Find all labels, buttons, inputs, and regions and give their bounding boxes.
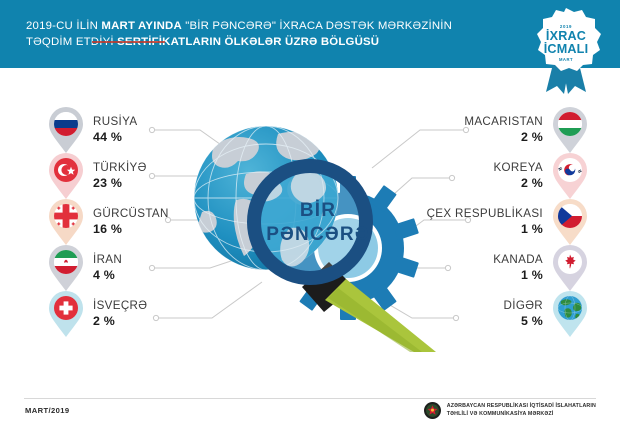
country-name: RUSİYA [93,115,137,129]
country-name: KOREYA [493,161,543,175]
georgia-flag-icon [54,204,78,228]
map-pin-cex-respublikasi [552,199,588,245]
title-underline-accent [92,41,165,43]
country-labels: KANADA 1 % [493,253,543,283]
country-labels: MACARISTAN 2 % [464,115,543,145]
map-pin-rusiya [48,107,84,153]
country-value: 1 % [521,222,543,237]
hungary-flag-icon [558,112,582,136]
diagram-stage: BİR PƏNCƏRƏ [0,68,620,386]
country-name: GÜRCÜSTAN [93,207,169,221]
country-value: 23 % [93,176,122,191]
russia-flag-icon [54,112,78,136]
title-part-bold-1: MART AYINDA [101,20,181,32]
map-pin-macaristan [552,107,588,153]
country-labels: KOREYA 2 % [493,161,543,191]
country-value: 44 % [93,130,122,145]
country-name: KANADA [493,253,543,267]
map-pin-isvecre [48,291,84,337]
country-row-koreya[interactable]: KOREYA 2 % [493,153,588,199]
map-pin-diger [552,291,588,337]
central-illustration: BİR PƏNCƏRƏ [178,116,448,352]
country-row-macaristan[interactable]: MACARISTAN 2 % [464,107,588,153]
country-labels: İSVEÇRƏ 2 % [93,299,147,329]
title-part-plain-1: 2019-CU İLİN [26,20,101,32]
country-name: İSVEÇRƏ [93,299,147,313]
switzerland-flag-icon [54,296,78,320]
organization-name: AZƏRBAYCAN RESPUBLİKASI İQTİSADİ İSLAHAT… [447,403,596,418]
country-value: 2 % [93,314,115,329]
map-pin-gurcustan [48,199,84,245]
country-name: DİGƏR [504,299,543,313]
organization-line-1: AZƏRBAYCAN RESPUBLİKASI İQTİSADİ İSLAHAT… [447,403,596,410]
country-value: 1 % [521,268,543,283]
country-row-diger[interactable]: DİGƏR 5 % [504,291,588,337]
magnifier-label-line2: PƏNCƏRƏ [266,224,370,245]
country-value: 4 % [93,268,115,283]
magnifier-label-line1: BİR [300,200,336,221]
country-labels: İRAN 4 % [93,253,122,283]
country-value: 16 % [93,222,122,237]
country-row-turkiye[interactable]: TÜRKİYƏ 23 % [48,153,147,199]
country-row-iran[interactable]: İRAN 4 % [48,245,122,291]
country-row-kanada[interactable]: KANADA 1 % [493,245,588,291]
country-row-isvecre[interactable]: İSVEÇRƏ 2 % [48,291,147,337]
footer-organization: AZƏRBAYCAN RESPUBLİKASI İQTİSADİ İSLAHAT… [424,402,596,419]
turkey-flag-icon [54,158,78,182]
infographic-root: 2019-CU İLİN MART AYINDA "BİR PƏNCƏRƏ" İ… [0,0,620,438]
country-value: 2 % [521,176,543,191]
map-pin-turkiye [48,153,84,199]
country-value: 5 % [521,314,543,329]
country-row-cex-respublikasi[interactable]: ÇEX RESPUBLİKASI 1 % [427,199,588,245]
canada-flag-icon [558,250,582,274]
page-title: 2019-CU İLİN MART AYINDA "BİR PƏNCƏRƏ" İ… [26,18,486,50]
country-name: İRAN [93,253,122,267]
country-labels: RUSİYA 44 % [93,115,137,145]
country-name: ÇEX RESPUBLİKASI [427,207,543,221]
southkorea-flag-icon [558,158,582,182]
map-pin-iran [48,245,84,291]
iran-flag-icon [54,250,78,274]
map-pin-kanada [552,245,588,291]
country-labels: DİGƏR 5 % [504,299,543,329]
country-name: MACARISTAN [464,115,543,129]
country-labels: ÇEX RESPUBLİKASI 1 % [427,207,543,237]
header-bar: 2019-CU İLİN MART AYINDA "BİR PƏNCƏRƏ" İ… [0,0,620,68]
globe-icon [558,296,582,320]
map-pin-koreya [552,153,588,199]
czech-flag-icon [558,204,582,228]
footer-divider [24,398,596,399]
footer-date: MART/2019 [25,406,70,415]
country-labels: TÜRKİYƏ 23 % [93,161,147,191]
country-name: TÜRKİYƏ [93,161,147,175]
country-labels: GÜRCÜSTAN 16 % [93,207,169,237]
country-row-rusiya[interactable]: RUSİYA 44 % [48,107,137,153]
country-row-gurcustan[interactable]: GÜRCÜSTAN 16 % [48,199,169,245]
organization-line-2: TƏHLİLİ VƏ KOMMUNİKASİYA MƏRKƏZİ [447,411,596,418]
azerbaijan-emblem-icon [424,402,441,419]
country-value: 2 % [521,130,543,145]
